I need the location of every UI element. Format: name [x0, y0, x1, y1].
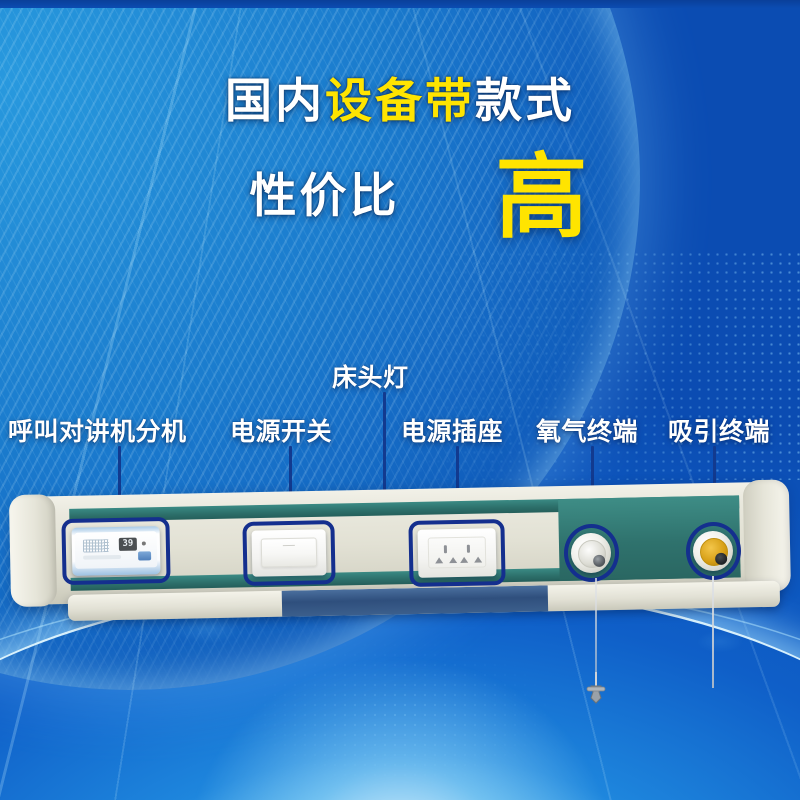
rail-dark-segment — [282, 585, 548, 616]
callout-label-oxygen[interactable]: 氧气终端 — [536, 412, 638, 448]
headline-subtext: 性价比 — [249, 157, 399, 226]
horizon-glow — [176, 650, 624, 800]
headline-accent: 设备带 — [325, 74, 475, 127]
product-banner: 国内设备带款式 性价比 高 呼叫对讲机分机 电源开关 床头灯 电源插座 氧气终端… — [0, 0, 800, 800]
headline-line-2: 性价比 高 — [0, 151, 800, 234]
callout-label-power-socket[interactable]: 电源插座 — [401, 412, 503, 448]
headline-prefix: 国内 — [225, 74, 325, 127]
highlight-box-power-socket — [408, 519, 505, 587]
panel-end-cap-left — [9, 494, 57, 607]
panel-end-cap-right — [743, 479, 791, 592]
cable-fitting-icon — [585, 672, 607, 706]
headline-line-1: 国内设备带款式 — [0, 74, 800, 129]
headline-block: 国内设备带款式 性价比 高 — [0, 74, 800, 233]
suction-hose-cable — [712, 576, 714, 688]
callout-label-intercom[interactable]: 呼叫对讲机分机 — [8, 412, 187, 448]
callout-label-bed-lamp[interactable]: 床头灯 — [332, 358, 409, 394]
headline-suffix: 款式 — [475, 74, 575, 127]
callout-label-suction[interactable]: 吸引终端 — [668, 412, 770, 448]
callout-label-power-switch[interactable]: 电源开关 — [230, 412, 332, 448]
highlight-circle-oxygen — [564, 524, 619, 582]
highlight-circle-suction — [686, 522, 741, 580]
highlight-box-power-switch — [242, 520, 335, 586]
highlight-box-intercom — [61, 517, 170, 585]
cable-end-fitting — [585, 672, 607, 706]
headline-emphasis-char: 高 — [495, 157, 590, 240]
top-edge-bar — [0, 0, 800, 8]
